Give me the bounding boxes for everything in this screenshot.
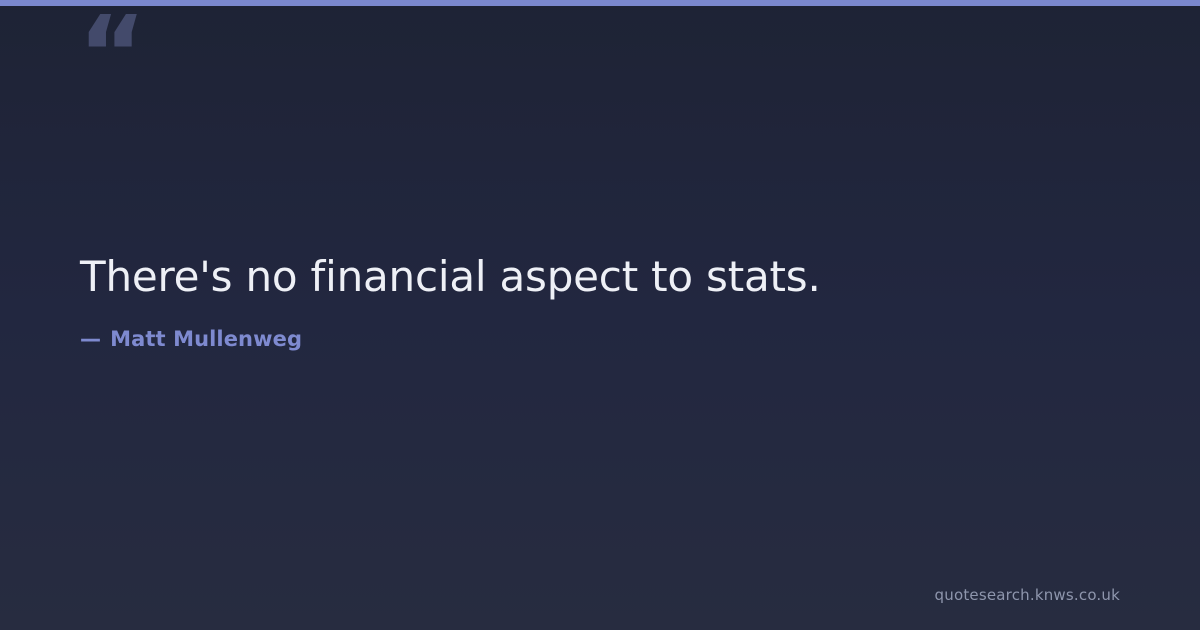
quote-card: “ There's no financial aspect to stats. …: [0, 0, 1200, 630]
quote-content: There's no financial aspect to stats. — …: [80, 250, 1120, 351]
site-watermark: quotesearch.knws.co.uk: [935, 586, 1120, 604]
quote-text: There's no financial aspect to stats.: [80, 250, 1080, 305]
open-quote-icon: “: [78, 2, 144, 106]
quote-attribution: — Matt Mullenweg: [80, 327, 1120, 351]
top-accent-bar: [0, 0, 1200, 6]
em-dash-icon: —: [80, 327, 101, 351]
author-name: Matt Mullenweg: [110, 327, 302, 351]
